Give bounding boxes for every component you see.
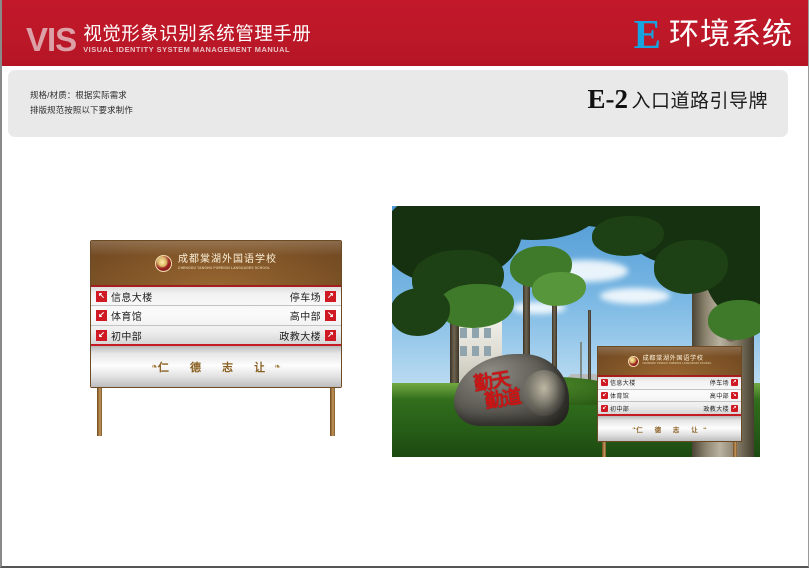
sign-motto-panel: ❧ 仁 德 志 让 ❧ xyxy=(598,414,741,441)
plate-name: 入口道路引导牌 xyxy=(631,92,768,111)
window xyxy=(460,328,467,338)
spec-notes: 规格/材质：根据实际需求 排版规范按照以下要求制作 xyxy=(30,88,133,117)
sign-brand: 成都棠湖外国语学校 CHENGDU TANGHU FOREIGN LANGUAG… xyxy=(628,356,712,367)
sign-header-panel: 成都棠湖外国语学校 CHENGDU TANGHU FOREIGN LANGUAG… xyxy=(598,347,741,376)
manual-brand: VIS 视觉形象识别系统管理手册 VISUAL IDENTITY SYSTEM … xyxy=(26,24,311,55)
sign-board: 成都棠湖外国语学校 CHENGDU TANGHU FOREIGN LANGUAG… xyxy=(90,240,342,388)
motto-deco-right-icon: ❧ xyxy=(274,362,281,371)
arrow-down-left-icon: ↙ xyxy=(601,405,608,412)
destination-label: 高中部 xyxy=(710,391,729,400)
sign-brand: 成都棠湖外国语学校 CHENGDU TANGHU FOREIGN LANGUAG… xyxy=(155,255,277,272)
sign-brand-en: CHENGDU TANGHU FOREIGN LANGUAGES SCHOOL xyxy=(178,267,277,270)
spec-band: 规格/材质：根据实际需求 排版规范按照以下要求制作 E-2 入口道路引导牌 xyxy=(8,70,788,137)
table-row: ↖ 信息大楼 停车场 ↗ xyxy=(91,287,341,306)
sign-motto-text: 仁 德 志 让 xyxy=(636,424,702,434)
sign-board: 成都棠湖外国语学校 CHENGDU TANGHU FOREIGN LANGUAG… xyxy=(597,346,742,442)
destination-label: 体育馆 xyxy=(111,308,142,323)
sign-motto-panel: ❧ 仁 德 志 让 ❧ xyxy=(91,344,341,387)
plate-code: E-2 xyxy=(588,86,629,113)
destination-label: 停车场 xyxy=(710,378,729,387)
arrow-down-right-icon: ↘ xyxy=(731,392,738,399)
motto-deco-right-icon: ❧ xyxy=(703,426,707,432)
destination-label: 高中部 xyxy=(290,308,321,323)
vis-wordmark: VIS xyxy=(26,24,83,55)
sign-header-panel: 成都棠湖外国语学校 CHENGDU TANGHU FOREIGN LANGUAG… xyxy=(91,241,341,286)
section-letter: E xyxy=(634,14,661,55)
window xyxy=(484,328,491,338)
installation-photo: 勤天 勤道 xyxy=(392,206,760,457)
school-crest-icon xyxy=(628,356,639,367)
arrow-up-right-icon: ↗ xyxy=(325,291,336,302)
manual-title-en: VISUAL IDENTITY SYSTEM MANAGEMENT MANUAL xyxy=(83,45,311,54)
arrow-up-right-icon: ↗ xyxy=(731,379,738,386)
sign-brand-en: CHENGDU TANGHU FOREIGN LANGUAGES SCHOOL xyxy=(643,363,712,365)
sign-directory-list: ↖ 信息大楼 停车场 ↗ ↙ 体育馆 高中部 ↘ xyxy=(91,286,341,344)
destination-label: 政教大楼 xyxy=(279,328,321,343)
arrow-up-left-icon: ↖ xyxy=(96,291,107,302)
spec-note-layout: 排版规范按照以下要求制作 xyxy=(30,103,133,118)
sign-brand-cn: 成都棠湖外国语学校 xyxy=(178,255,277,265)
arrow-down-right-icon: ↘ xyxy=(325,310,336,321)
destination-label: 初中部 xyxy=(111,328,142,343)
table-row: ↙ 初中部 政教大楼 ↗ xyxy=(91,326,341,345)
arrow-up-right-icon: ↗ xyxy=(731,405,738,412)
spec-note-material: 规格/材质：根据实际需求 xyxy=(30,88,133,103)
window xyxy=(484,346,491,356)
destination-label: 信息大楼 xyxy=(111,289,153,304)
section-label: 环境系统 xyxy=(669,20,793,50)
sign-directory-list: ↖ 信息大楼 停车场 ↗ ↙ 体育馆 xyxy=(598,376,741,414)
sign-artwork-in-photo: 成都棠湖外国语学校 CHENGDU TANGHU FOREIGN LANGUAG… xyxy=(597,346,742,457)
table-row: ↙ 体育馆 高中部 ↘ xyxy=(91,306,341,325)
manual-page: VIS 视觉形象识别系统管理手册 VISUAL IDENTITY SYSTEM … xyxy=(0,0,809,568)
section-indicator: E 环境系统 xyxy=(634,14,793,55)
destination-label: 初中部 xyxy=(610,404,629,413)
destination-label: 政教大楼 xyxy=(703,404,729,413)
page-header: VIS 视觉形象识别系统管理手册 VISUAL IDENTITY SYSTEM … xyxy=(2,0,809,66)
destination-label: 体育馆 xyxy=(610,391,629,400)
window xyxy=(472,346,479,356)
destination-label: 停车场 xyxy=(290,289,321,304)
table-row: ↖ 信息大楼 停车场 ↗ xyxy=(598,377,741,390)
table-row: ↙ 初中部 政教大楼 ↗ xyxy=(598,402,741,415)
school-crest-icon xyxy=(155,255,172,272)
sign-artwork-main: 成都棠湖外国语学校 CHENGDU TANGHU FOREIGN LANGUAG… xyxy=(90,240,342,436)
arrow-up-right-icon: ↗ xyxy=(325,330,336,341)
destination-label: 信息大楼 xyxy=(610,378,636,387)
table-row: ↙ 体育馆 高中部 ↘ xyxy=(598,390,741,403)
motto-deco-left-icon: ❧ xyxy=(151,362,158,371)
tree-canopy xyxy=(392,206,760,323)
arrow-down-left-icon: ↙ xyxy=(601,392,608,399)
sign-motto-text: 仁 德 志 让 xyxy=(158,359,274,375)
window xyxy=(460,346,467,356)
arrow-up-left-icon: ↖ xyxy=(601,379,608,386)
manual-title-cn: 视觉形象识别系统管理手册 xyxy=(83,24,311,43)
window xyxy=(472,328,479,338)
arrow-down-left-icon: ↙ xyxy=(96,330,107,341)
arrow-down-left-icon: ↙ xyxy=(96,310,107,321)
